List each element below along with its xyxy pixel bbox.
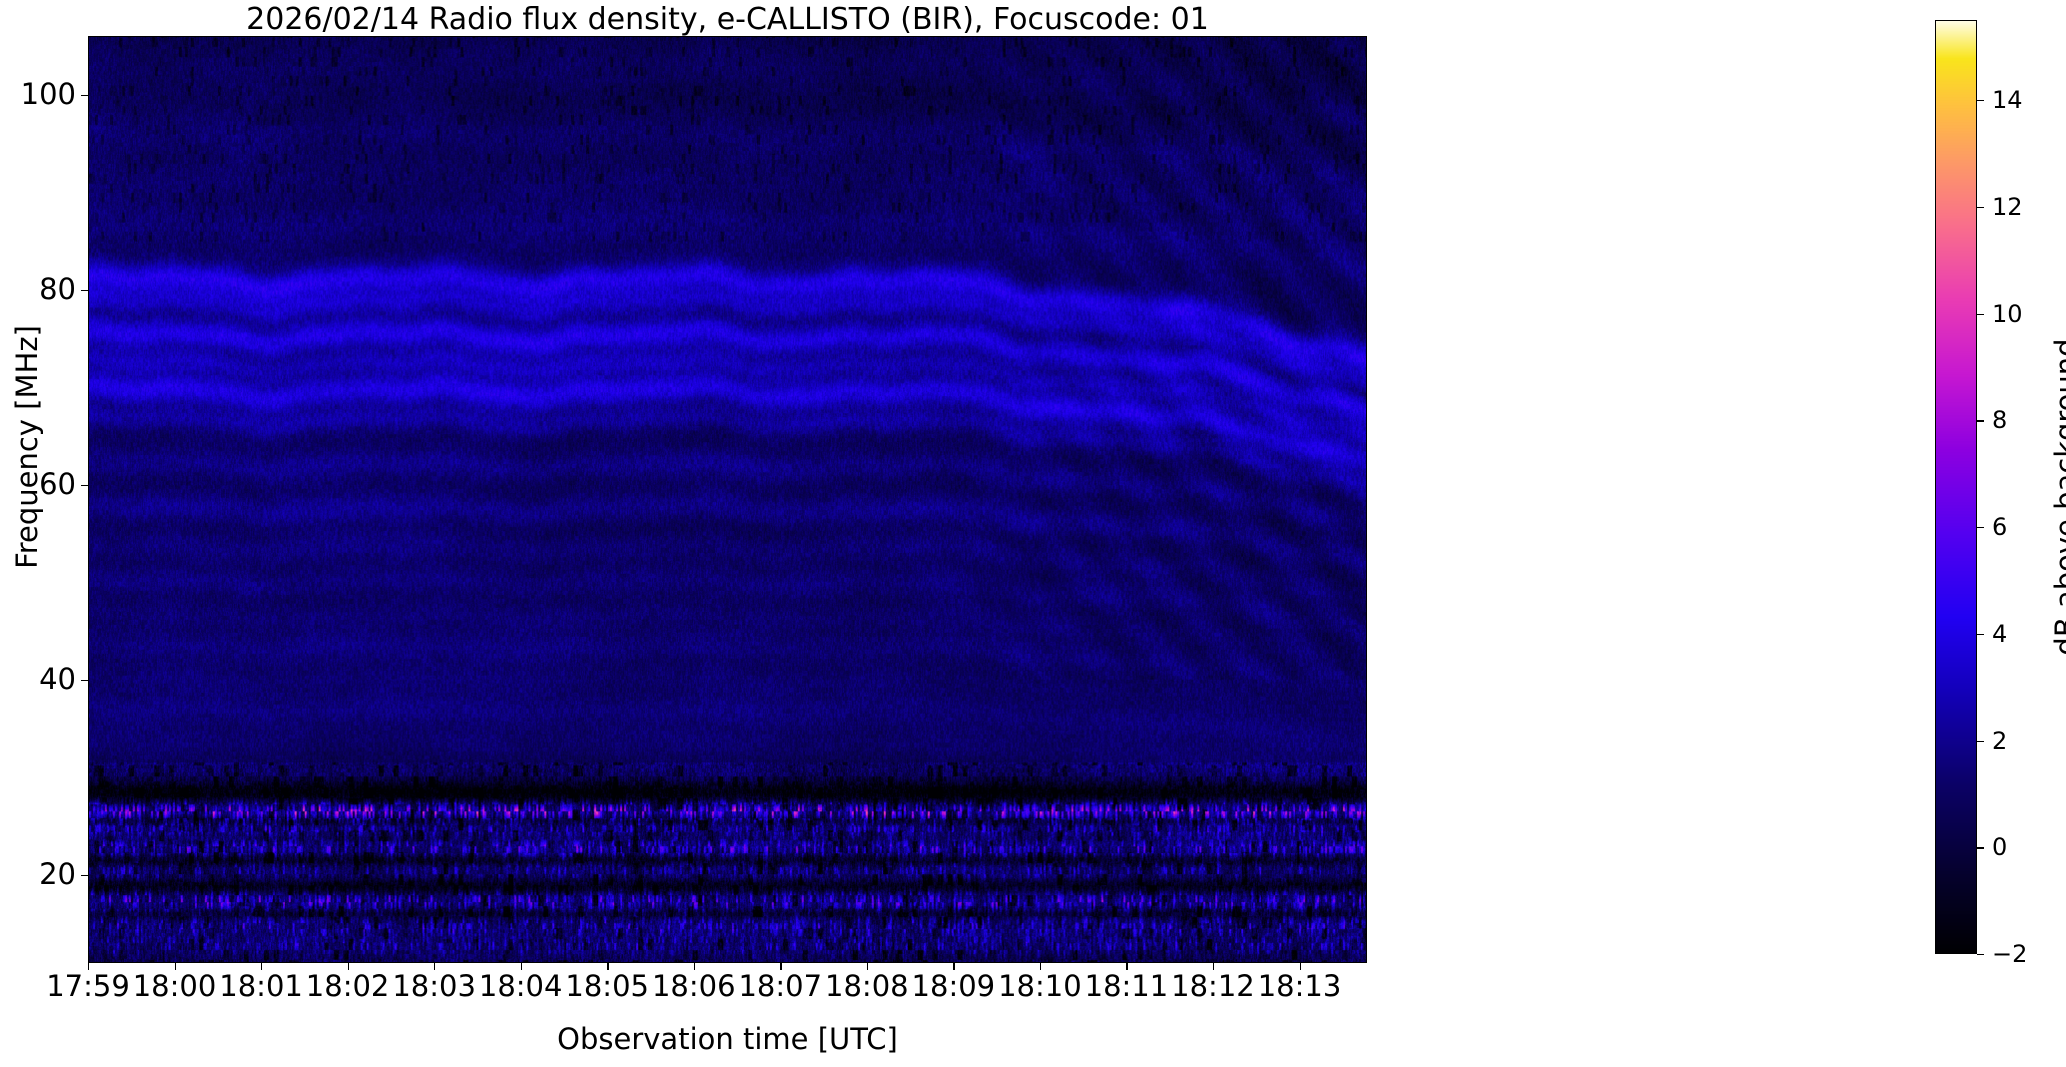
x-tick-mark — [694, 963, 695, 970]
x-tick-mark — [261, 963, 262, 970]
x-tick-mark — [88, 963, 89, 970]
spectrogram-image — [89, 37, 1366, 962]
x-tick-mark — [1213, 963, 1214, 970]
colorbar-tick-mark — [1977, 420, 1984, 421]
x-tick-mark — [1126, 963, 1127, 970]
x-tick-mark — [521, 963, 522, 970]
y-tick-mark — [81, 95, 88, 96]
x-axis-label: Observation time [UTC] — [88, 1022, 1367, 1056]
y-axis-label: Frequency [MHz] — [10, 87, 44, 807]
colorbar-tick-mark — [1977, 100, 1984, 101]
colorbar-tick-mark — [1977, 527, 1984, 528]
colorbar-gradient — [1936, 21, 1976, 953]
y-tick-label: 80 — [6, 275, 76, 304]
x-tick-mark — [607, 963, 608, 970]
y-tick-label: 100 — [6, 80, 76, 109]
x-tick-label: 18:13 — [1220, 970, 1380, 1002]
colorbar-tick-label: 14 — [1992, 88, 2062, 112]
colorbar-tick-mark — [1977, 314, 1984, 315]
spectrogram-figure: 2026/02/14 Radio flux density, e-CALLIST… — [0, 0, 2066, 1067]
spectrogram-axes — [88, 36, 1367, 963]
colorbar-tick-label: −2 — [1992, 942, 2062, 966]
y-tick-mark — [81, 290, 88, 291]
colorbar-tick-mark — [1977, 207, 1984, 208]
x-tick-mark — [1300, 963, 1301, 970]
x-tick-mark — [867, 963, 868, 970]
y-tick-label: 40 — [6, 665, 76, 694]
colorbar-tick-mark — [1977, 847, 1984, 848]
x-tick-mark — [780, 963, 781, 970]
x-tick-mark — [348, 963, 349, 970]
x-tick-mark — [175, 963, 176, 970]
y-tick-label: 60 — [6, 470, 76, 499]
colorbar-tick-mark — [1977, 634, 1984, 635]
y-tick-label: 20 — [6, 860, 76, 889]
y-tick-mark — [81, 875, 88, 876]
x-tick-mark — [953, 963, 954, 970]
colorbar-tick-mark — [1977, 741, 1984, 742]
x-tick-mark — [434, 963, 435, 970]
y-tick-mark — [81, 680, 88, 681]
colorbar-label: dB above background — [2049, 137, 2066, 857]
colorbar — [1935, 20, 1977, 954]
page-title: 2026/02/14 Radio flux density, e-CALLIST… — [0, 2, 1455, 38]
x-tick-mark — [1040, 963, 1041, 970]
y-tick-mark — [81, 485, 88, 486]
colorbar-tick-mark — [1977, 954, 1984, 955]
